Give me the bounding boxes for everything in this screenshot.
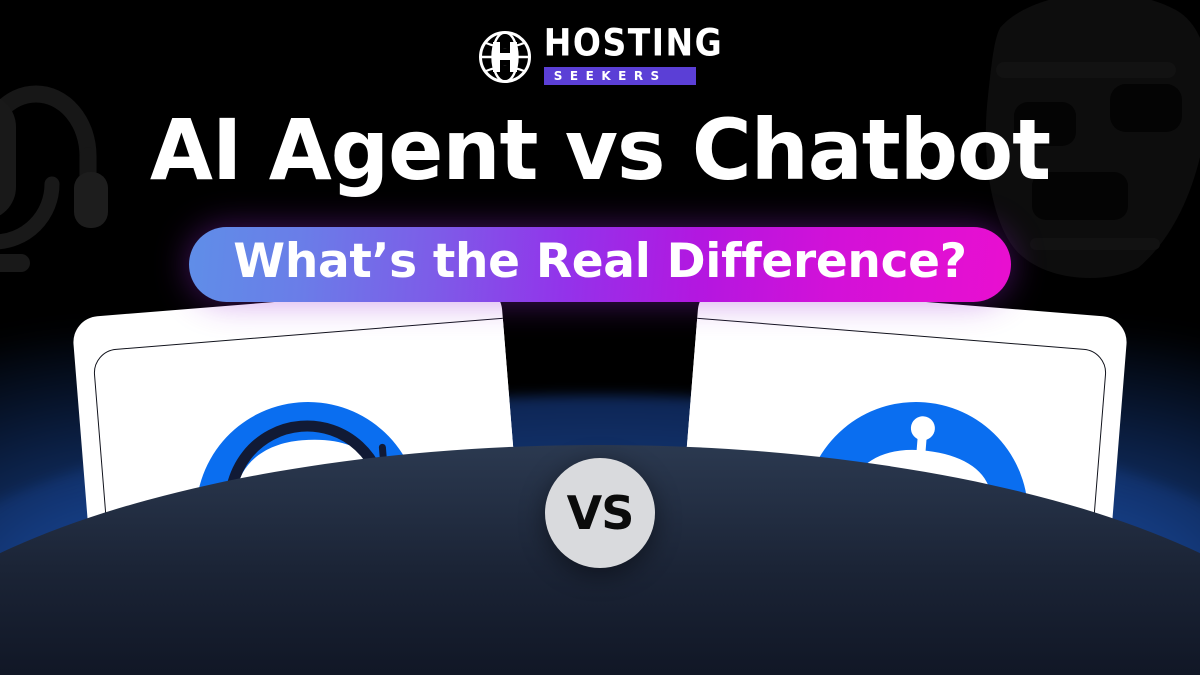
logo-secondary-bar: SEEKERS xyxy=(544,67,696,85)
logo-secondary-text: SEEKERS xyxy=(554,70,667,82)
logo-primary-text: HOSTING xyxy=(544,24,723,61)
hero-banner: HOSTING SEEKERS AI Agent vs Chatbot What… xyxy=(0,0,1200,675)
globe-h-icon xyxy=(477,29,533,85)
logo-wordmark: HOSTING SEEKERS xyxy=(544,28,723,85)
subtitle-pill: What’s the Real Difference? xyxy=(189,227,1010,302)
vs-badge: VS xyxy=(545,458,655,568)
page-title: AI Agent vs Chatbot xyxy=(18,108,1182,192)
brand-logo[interactable]: HOSTING SEEKERS xyxy=(0,28,1200,85)
vs-label: VS xyxy=(567,490,634,536)
subtitle-text: What’s the Real Difference? xyxy=(233,234,966,289)
subtitle-container: What’s the Real Difference? xyxy=(0,227,1200,302)
